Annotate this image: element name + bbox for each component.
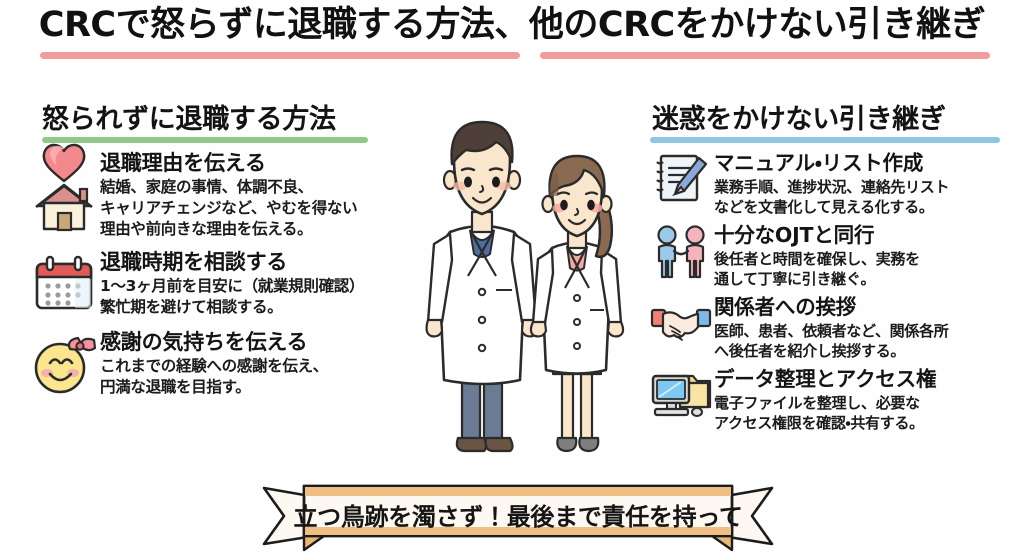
list-item-body: 関係者への挨拶 医師、患者、依頼者など、関係各所 へ後任者を紹介し挨拶する。 [714,293,1020,361]
smiley-ribbon-icon [28,328,100,400]
list-item-desc-line: 理由や前向きな理由を伝える。 [100,220,398,240]
list-item-title: マニュアル・リスト作成 [714,151,923,177]
list-item: 関係者への挨拶 医師、患者、依頼者など、関係各所 へ後任者を紹介し挨拶する。 [648,293,1020,361]
list-item-desc-line: 医師、患者、依頼者など、関係各所 [714,322,1020,341]
infographic-page: CRCで怒らずに退職する方法、他のCRCをかけない引き継ぎ 怒られずに退職する方… [0,0,1024,559]
calendar-icon [28,248,100,320]
left-column-heading: 怒られずに退職する方法 [42,104,398,135]
list-item-desc-line: 繁忙期を避けて相談する。 [100,298,398,318]
list-item-body: データ整理とアクセス権 電子ファイルを整理し、必要な アクセス権限を確認・共有す… [714,365,1020,433]
list-item-desc-line: これまでの経験への感謝を伝え、 [100,357,398,377]
list-item: マニュアル・リスト作成 業務手順、進捗状況、連絡先リスト などを文書化して見える… [648,149,1020,217]
list-item-desc-line: キャリアチェンジなど、やむを得ない [100,199,398,219]
list-item-desc-line: アクセス権限を確認・共有する。 [714,414,1020,433]
list-item: 退職時期を相談する 1〜3ヶ月前を目安に（就業規則確認） 繁忙期を避けて相談する… [28,248,398,320]
list-item-body: 退職時期を相談する 1〜3ヶ月前を目安に（就業規則確認） 繁忙期を避けて相談する… [100,248,398,318]
title-underline-right [540,52,990,59]
notepad-pencil-icon [648,149,714,211]
title-underline-left [40,52,520,59]
list-item-desc-line: 結婚、家庭の事情、体調不良、 [100,178,398,198]
list-item-desc-line: 1〜3ヶ月前を目安に（就業規則確認） [100,277,398,297]
male-staff-in-white-coat [427,122,538,451]
bottom-ribbon: 立つ鳥跡を濁さず！最後まで責任を持って [258,478,778,554]
ribbon-text: 立つ鳥跡を濁さず！最後まで責任を持って [258,478,778,554]
list-item-desc-line: 円満な退職を目指す。 [100,378,398,398]
female-staff-in-white-coat [531,156,623,451]
list-item-title: 感謝の気持ちを伝える [100,330,307,356]
list-item-desc-line: などを文書化して見える化する。 [714,198,1020,217]
list-item-body: 退職理由を伝える 結婚、家庭の事情、体調不良、 キャリアチェンジなど、やむを得な… [100,149,398,240]
two-people-icon [648,221,714,283]
list-item-title: 退職時期を相談する [100,250,287,276]
right-column-heading: 迷惑をかけない引き継ぎ [652,104,1020,135]
list-item-desc-line: 電子ファイルを整理し、必要な [714,394,1020,413]
heart-house-icon [28,149,100,221]
list-item-body: 十分なOJTと同行 後任者と時間を確保し、実務を 通して丁寧に引き継ぐ。 [714,221,1020,289]
list-item-title: 十分なOJTと同行 [714,223,874,249]
list-item-desc-line: へ後任者を紹介し挨拶する。 [714,342,1020,361]
two-lab-coat-staff-illustration [392,112,644,482]
left-column: 怒られずに退職する方法 退職理由を伝える [28,104,398,400]
monitor-folder-icon [648,365,714,427]
list-item: 退職理由を伝える 結婚、家庭の事情、体調不良、 キャリアチェンジなど、やむを得な… [28,149,398,240]
list-item: データ整理とアクセス権 電子ファイルを整理し、必要な アクセス権限を確認・共有す… [648,365,1020,433]
list-item-title: 退職理由を伝える [100,151,266,177]
list-item-desc-line: 通して丁寧に引き継ぐ。 [714,270,1020,289]
page-title: CRCで怒らずに退職する方法、他のCRCをかけない引き継ぎ [39,6,985,45]
list-item-body: マニュアル・リスト作成 業務手順、進捗状況、連絡先リスト などを文書化して見える… [714,149,1020,217]
list-item-body: 感謝の気持ちを伝える これまでの経験への感謝を伝え、 円満な退職を目指す。 [100,328,398,398]
handshake-icon [648,293,714,355]
list-item-title: データ整理とアクセス権 [714,367,936,393]
list-item-desc-line: 後任者と時間を確保し、実務を [714,250,1020,269]
list-item-desc-line: 業務手順、進捗状況、連絡先リスト [714,178,1020,197]
list-item-title: 関係者への挨拶 [714,295,856,321]
right-column-underline [650,137,1000,143]
list-item: 感謝の気持ちを伝える これまでの経験への感謝を伝え、 円満な退職を目指す。 [28,328,398,400]
right-column: 迷惑をかけない引き継ぎ [648,104,1020,433]
list-item: 十分なOJTと同行 後任者と時間を確保し、実務を 通して丁寧に引き継ぐ。 [648,221,1020,289]
